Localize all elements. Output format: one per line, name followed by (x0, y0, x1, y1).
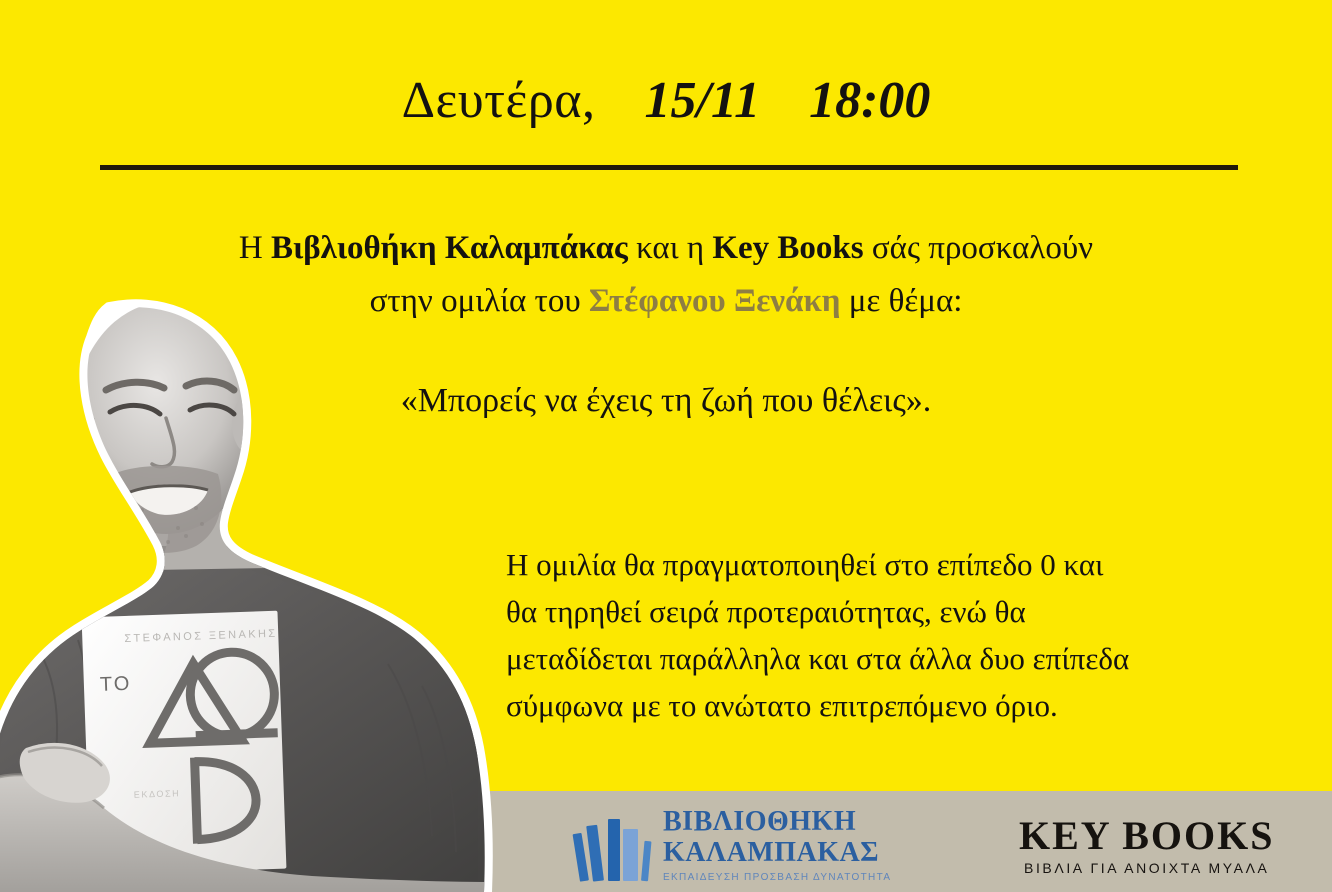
talk-suffix: με θέμα: (841, 283, 963, 319)
svg-text:ΕΚΔΟΣΗ: ΕΚΔΟΣΗ (134, 788, 181, 800)
photo-content: ΣΤΕΦΑΝΟΣ ΞΕΝΑΚΗΣ ΤΟ ΕΚΔΟΣΗ (0, 302, 502, 892)
details-line-4: σύμφωνα με το ανώτατο επιτρεπόμενο όριο. (506, 682, 1266, 729)
event-poster: Δευτέρα, 15/11 18:00 Η Βιβλιοθήκη Καλαμπ… (0, 0, 1332, 892)
book-shape-4 (623, 829, 638, 881)
event-details: Η ομιλία θα πραγματοποιηθεί στο επίπεδο … (506, 541, 1266, 729)
library-tagline: ΕΚΠΑΙΔΕΥΣΗ ΠΡΟΣΒΑΣΗ ΔΥΝΑΤΟΤΗΤΑ (663, 872, 891, 883)
stacked-books-icon (578, 815, 650, 881)
library-name-line-1: ΒΙΒΛΙΟΘΗΚΗ (663, 808, 891, 836)
details-line-3: μεταδίδεται παράλληλα και στα άλλα δυο ε… (506, 635, 1266, 682)
invitation-suffix: σάς προσκαλούν (864, 230, 1093, 266)
details-line-1: Η ομιλία θα πραγματοποιηθεί στο επίπεδο … (506, 541, 1266, 588)
speaker-photo: ΣΤΕΦΑΝΟΣ ΞΕΝΑΚΗΣ ΤΟ ΕΚΔΟΣΗ (0, 296, 502, 892)
organizer-library: Βιβλιοθήκη Καλαμπάκας (271, 230, 628, 266)
page-title: Δευτέρα, 15/11 18:00 (0, 72, 1332, 129)
event-date: 15/11 (645, 72, 761, 129)
organizer-publisher: Key Books (712, 230, 863, 266)
invitation-prefix: Η (239, 230, 271, 266)
publisher-tagline: ΒΙΒΛΙΑ ΓΙΑ ΑΝΟΙΧΤΑ ΜΥΑΛΑ (1019, 860, 1274, 876)
book-shape-2 (586, 825, 604, 882)
invitation-conjunction: και η (628, 230, 713, 266)
publisher-name: KEY BOOKS (1019, 816, 1274, 856)
event-time: 18:00 (809, 72, 930, 129)
invitation-line-1: Η Βιβλιοθήκη Καλαμπάκας και η Key Books … (0, 222, 1332, 275)
book-shape-3 (608, 819, 620, 881)
library-logo: ΒΙΒΛΙΟΘΗΚΗ ΚΑΛΑΜΠΑΚΑΣ ΕΚΠΑΙΔΕΥΣΗ ΠΡΟΣΒΑΣ… (578, 806, 891, 881)
header-divider (100, 165, 1238, 170)
svg-text:ΤΟ: ΤΟ (100, 673, 132, 696)
speaker-name: Στέφανου Ξενάκη (589, 283, 841, 319)
event-day: Δευτέρα, (402, 72, 596, 129)
book-shape-5 (641, 841, 651, 881)
details-line-2: θα τηρηθεί σειρά προτεραιότητας, ενώ θα (506, 588, 1266, 635)
library-wordmark: ΒΙΒΛΙΟΘΗΚΗ ΚΑΛΑΜΠΑΚΑΣ ΕΚΠΑΙΔΕΥΣΗ ΠΡΟΣΒΑΣ… (663, 808, 891, 883)
publisher-logo: KEY BOOKS ΒΙΒΛΙΑ ΓΙΑ ΑΝΟΙΧΤΑ ΜΥΑΛΑ (1019, 816, 1274, 876)
library-name-line-2: ΚΑΛΑΜΠΑΚΑΣ (663, 839, 891, 867)
